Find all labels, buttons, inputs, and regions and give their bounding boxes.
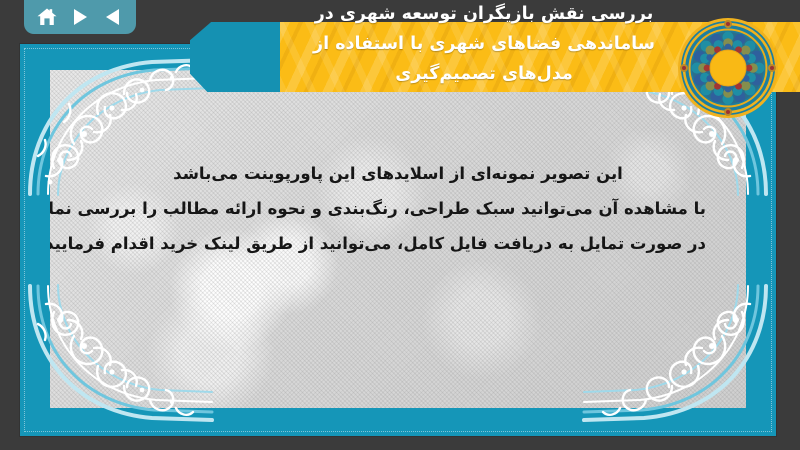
mandala-medallion-icon [676, 16, 780, 120]
slide-body-text: این تصویر نمونه‌ای از اسلایدهای این پاور… [90, 156, 706, 261]
slide-viewer: این تصویر نمونه‌ای از اسلایدهای این پاور… [0, 0, 800, 450]
navigation-bar [24, 0, 136, 34]
body-line-2: با مشاهده آن می‌توانید سبک طراحی، رنگ‌بن… [90, 191, 706, 226]
triangle-left-icon [103, 8, 123, 26]
home-button[interactable] [33, 5, 61, 29]
triangle-right-icon [70, 8, 90, 26]
previous-slide-button[interactable] [99, 5, 127, 29]
next-slide-button[interactable] [66, 5, 94, 29]
home-icon [36, 7, 58, 27]
body-line-3: در صورت تمایل به دریافت فایل کامل، می‌تو… [90, 226, 706, 261]
slide-content-panel: این تصویر نمونه‌ای از اسلایدهای این پاور… [50, 70, 746, 408]
body-line-1: این تصویر نمونه‌ای از اسلایدهای این پاور… [90, 156, 706, 191]
